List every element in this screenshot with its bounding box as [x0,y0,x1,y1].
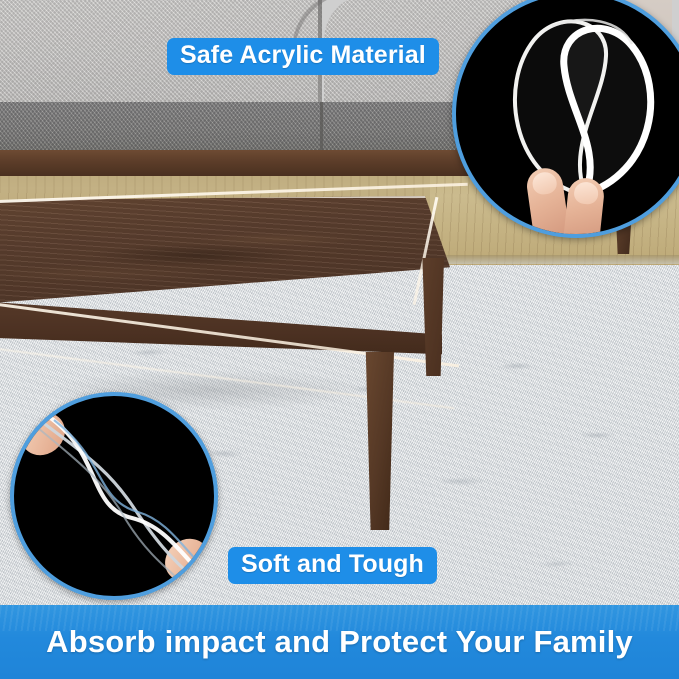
fingers-holding-strip [526,164,622,238]
label-safe-acrylic-material: Safe Acrylic Material [167,38,439,75]
inset-acrylic-twist [10,392,218,600]
inset-acrylic-twist-content [14,396,214,596]
fingernail-right [573,181,599,205]
banner-headline: Absorb impact and Protect Your Family [46,624,633,660]
fingernail-left [531,171,558,196]
inset-acrylic-loop-content [456,0,679,234]
inset-acrylic-loop [452,0,679,238]
product-marketing-image: Safe Acrylic Material Soft and Tough Abs… [0,0,679,679]
acrylic-guard-highlight [0,196,450,306]
finger-right [563,176,606,238]
acrylic-twist-illustration [14,396,214,596]
sofa-base-seam [320,102,323,150]
label-soft-and-tough: Soft and Tough [228,547,437,584]
bottom-banner: Absorb impact and Protect Your Family [0,605,679,679]
